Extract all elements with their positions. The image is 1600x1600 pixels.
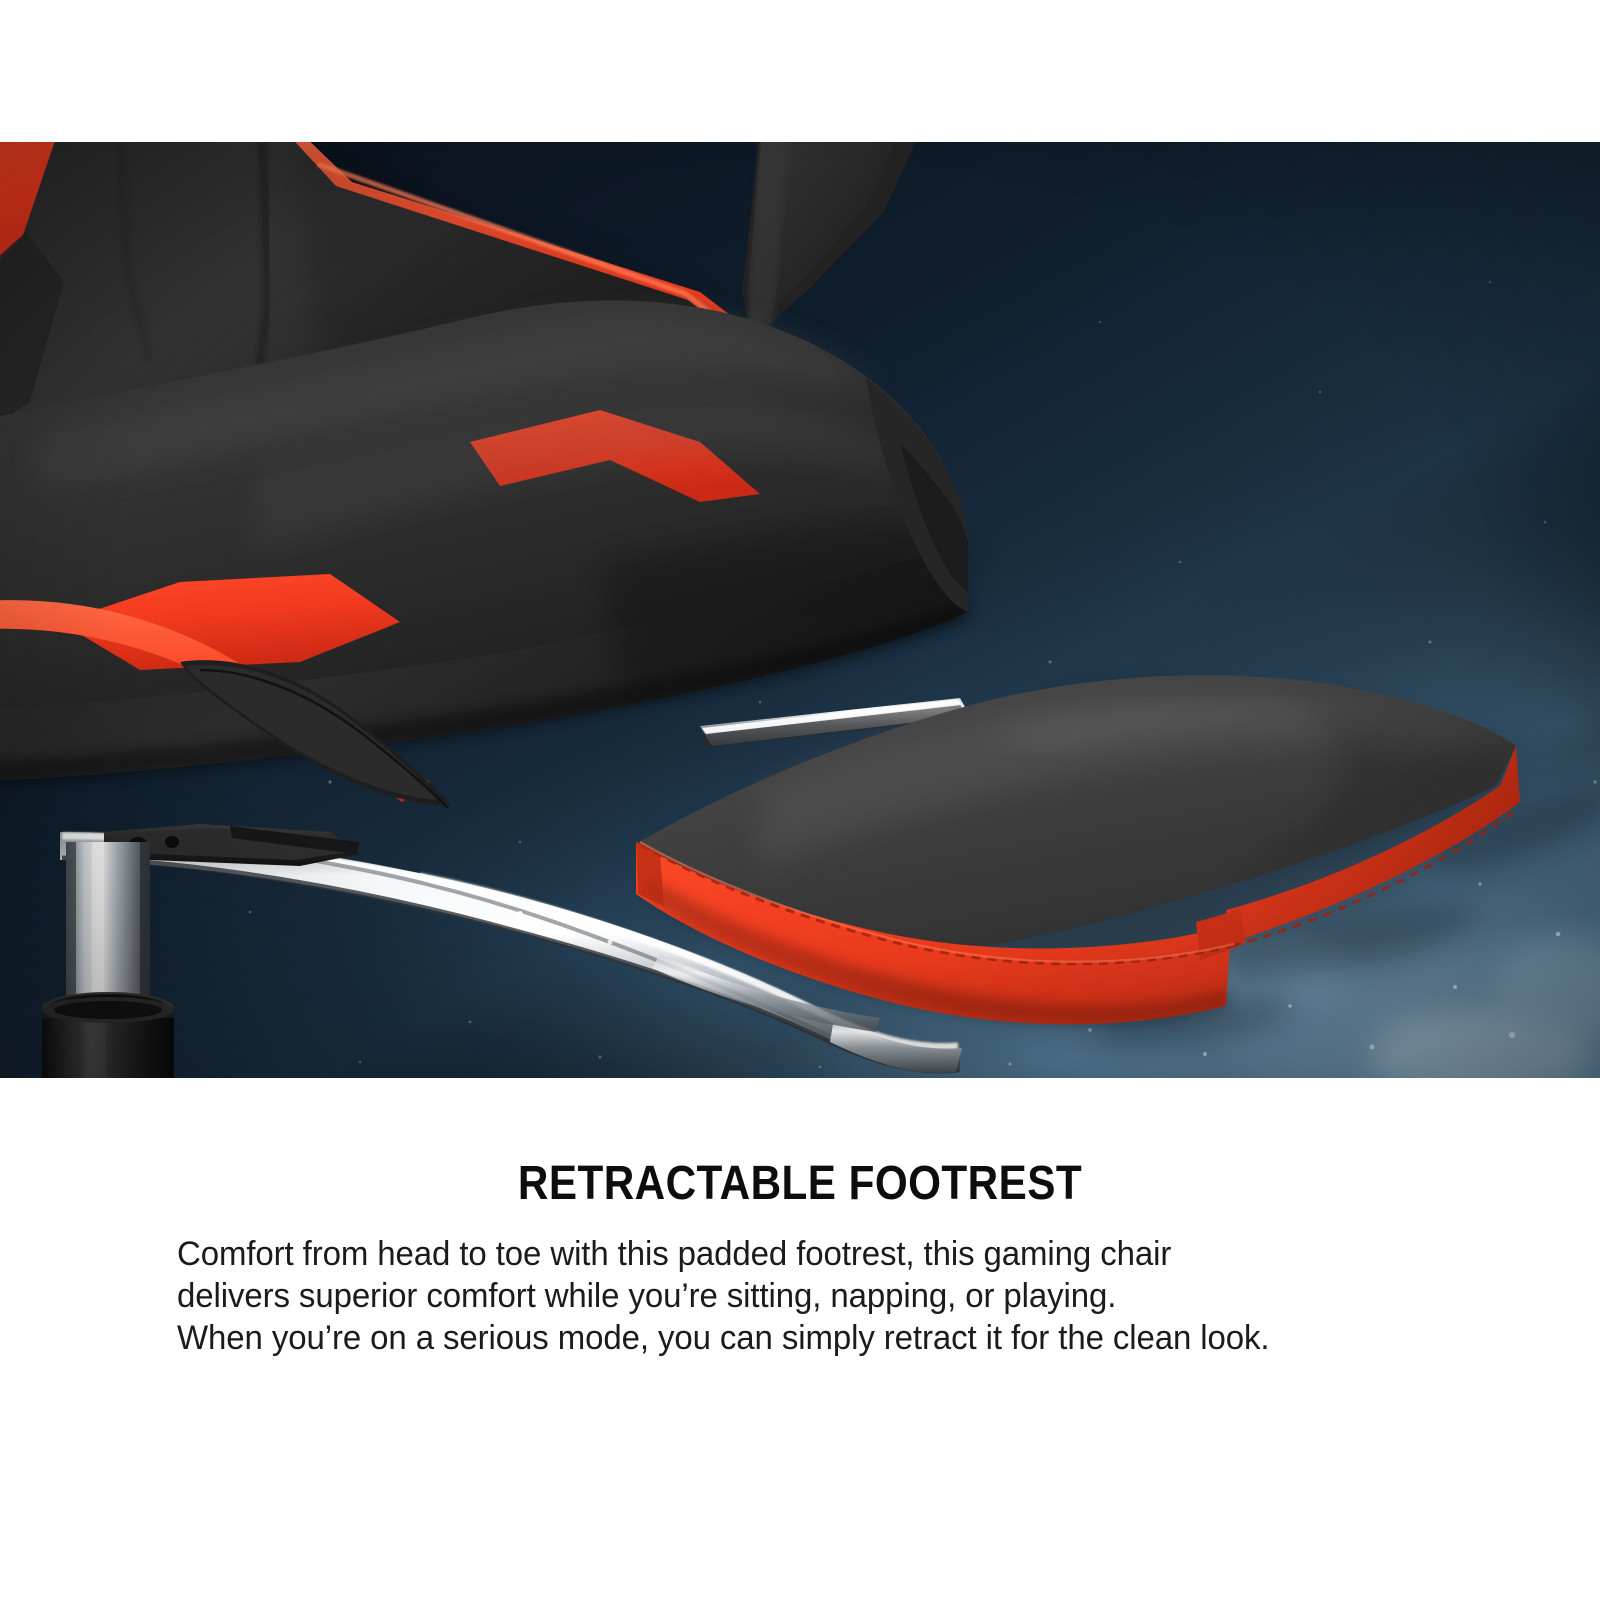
photo-vignette <box>0 142 1600 1078</box>
description-line-3: When you’re on a serious mode, you can s… <box>177 1317 1428 1359</box>
description-line-2: delivers superior comfort while you’re s… <box>177 1275 1428 1317</box>
feature-headline: RETRACTABLE FOOTREST <box>96 1160 1504 1208</box>
top-white-band <box>0 0 1600 142</box>
chair-photo-illustration <box>0 142 1600 1078</box>
feature-description: Comfort from head to toe with this padde… <box>177 1233 1467 1359</box>
hero-product-image <box>0 142 1600 1078</box>
feature-text-block: RETRACTABLE FOOTREST Comfort from head t… <box>0 1078 1600 1600</box>
product-feature-page: RETRACTABLE FOOTREST Comfort from head t… <box>0 0 1600 1600</box>
description-line-1: Comfort from head to toe with this padde… <box>177 1233 1428 1275</box>
